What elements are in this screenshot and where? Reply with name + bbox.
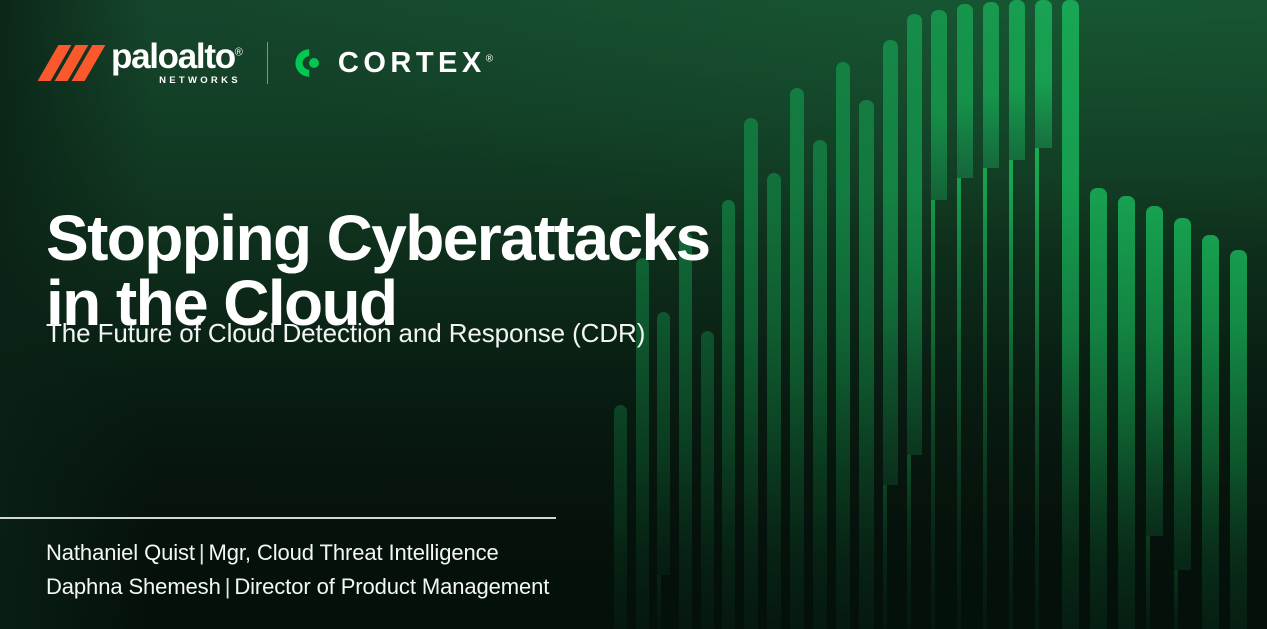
vertical-divider-icon [267,42,268,84]
decorative-bar [1230,0,1247,629]
paloalto-wordmark-text: paloalto® [111,40,243,73]
decorative-bar-head [983,2,999,168]
presenter-role: Director of Product Management [234,574,549,599]
decorative-bar-head [836,62,850,629]
decorative-bar [790,0,804,629]
decorative-bar-head [1118,196,1135,629]
decorative-bar [957,0,973,629]
slide-subtitle: The Future of Cloud Detection and Respon… [46,318,645,349]
decorative-bar-tail [1174,570,1178,629]
decorative-bar [767,0,781,629]
decorative-bar-head [883,40,898,485]
presenter-separator: | [195,540,209,565]
decorative-bar [1035,0,1052,629]
cortex-c-mark-icon [294,48,324,78]
paloalto-parallelogram-mark-icon [46,46,100,80]
decorative-bar-tail [883,485,887,629]
decorative-bar [836,0,850,629]
decorative-bar-tail [1146,536,1150,629]
slide-title: Stopping Cyberattacks in the Cloud [46,206,709,337]
decorative-bar-head [1174,218,1191,570]
decorative-bar [859,0,874,629]
decorative-bar-head [722,200,735,629]
presenter-row: Daphna Shemesh|Director of Product Manag… [46,570,549,604]
decorative-bar [1090,0,1107,629]
decorative-bar [1009,0,1025,629]
decorative-bar-tail [983,168,987,629]
presentation-title-slide: paloalto® NETWORKS CORTEX® Stopping Cybe… [0,0,1267,629]
decorative-bar-head [1146,206,1163,536]
decorative-bar-head [767,173,781,629]
decorative-bar-head [931,10,947,200]
paloalto-registered-mark: ® [235,47,243,59]
decorative-bar-head [790,88,804,629]
decorative-bar [1118,0,1135,629]
decorative-bar-head [614,405,627,629]
presenter-row: Nathaniel Quist|Mgr, Cloud Threat Intell… [46,536,549,570]
decorative-bar-head [1035,0,1052,148]
paloalto-networks-logo: paloalto® NETWORKS [46,40,243,85]
decorative-bar [1146,0,1163,629]
decorative-bar-tail [957,178,961,629]
decorative-bar [722,0,735,629]
presenter-separator: | [221,574,235,599]
cortex-registered-mark: ® [486,53,493,64]
decorative-bar [883,0,898,629]
paloalto-wordmark: paloalto® NETWORKS [111,40,243,85]
decorative-bar [983,0,999,629]
decorative-bar [1062,0,1079,629]
decorative-bar-tail [931,200,935,629]
decorative-bar-head [813,140,827,629]
cortex-wordmark-text: CORTEX® [338,49,493,78]
decorative-bar [744,0,758,629]
decorative-bar [931,0,947,629]
decorative-bar-head [957,4,973,178]
presenter-role: Mgr, Cloud Threat Intelligence [209,540,499,565]
decorative-bar-head [1009,0,1025,160]
decorative-bar-head [907,14,922,455]
decorative-bar-head [744,118,758,629]
decorative-bar-tail [657,575,661,629]
cortex-logo: CORTEX® [294,48,493,78]
decorative-bar-head [657,312,670,575]
decorative-bar-tail [907,455,911,629]
presenter-list: Nathaniel Quist|Mgr, Cloud Threat Intell… [46,536,549,605]
decorative-bar-tail [1009,160,1013,629]
decorative-bar-head [1090,188,1107,629]
decorative-bar [1202,0,1219,629]
decorative-bar-head [1202,235,1219,629]
decorative-bar [907,0,922,629]
presenter-name: Daphna Shemesh [46,574,221,599]
decorative-bar [813,0,827,629]
decorative-bar-head [1230,250,1247,629]
brand-logo-row: paloalto® NETWORKS CORTEX® [46,40,493,86]
presenter-divider-rule [0,517,556,519]
decorative-bar-tail [1035,148,1039,629]
decorative-bar-head [1062,0,1079,629]
decorative-bar [1174,0,1191,629]
decorative-bar-head [701,331,714,629]
decorative-bar-head [859,100,874,629]
presenter-name: Nathaniel Quist [46,540,195,565]
